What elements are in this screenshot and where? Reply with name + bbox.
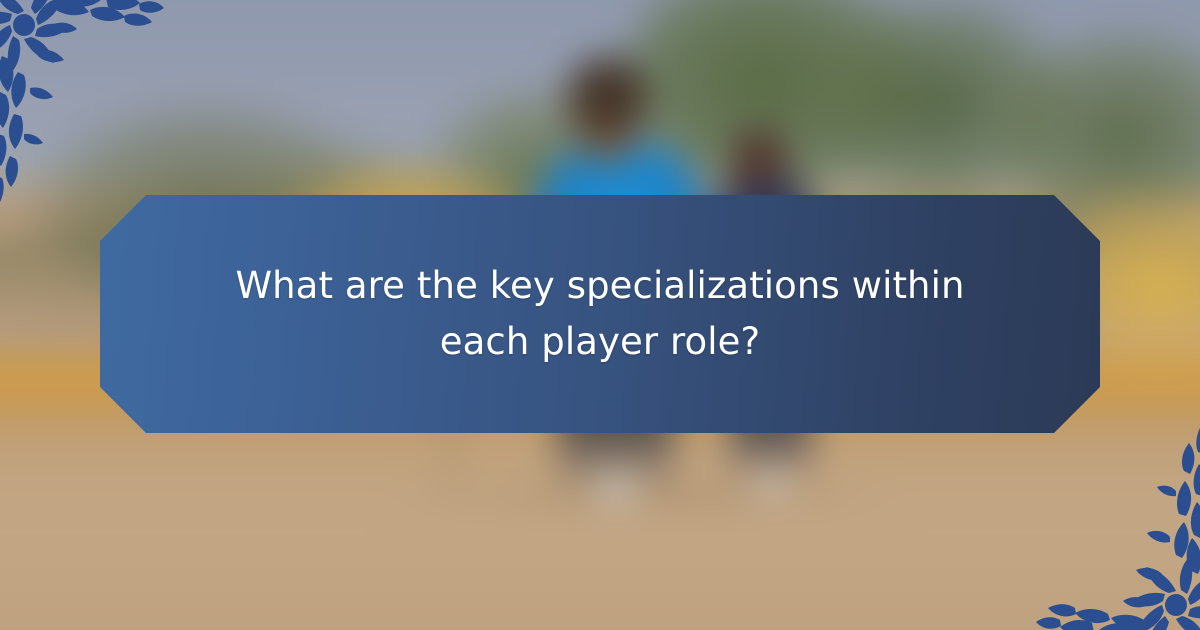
second-player-head <box>729 130 788 189</box>
headline-banner: What are the key specializations within … <box>100 195 1100 433</box>
headline-text: What are the key specializations within … <box>205 258 995 370</box>
pitch-line-smear <box>367 490 918 505</box>
main-player-head <box>564 57 651 140</box>
